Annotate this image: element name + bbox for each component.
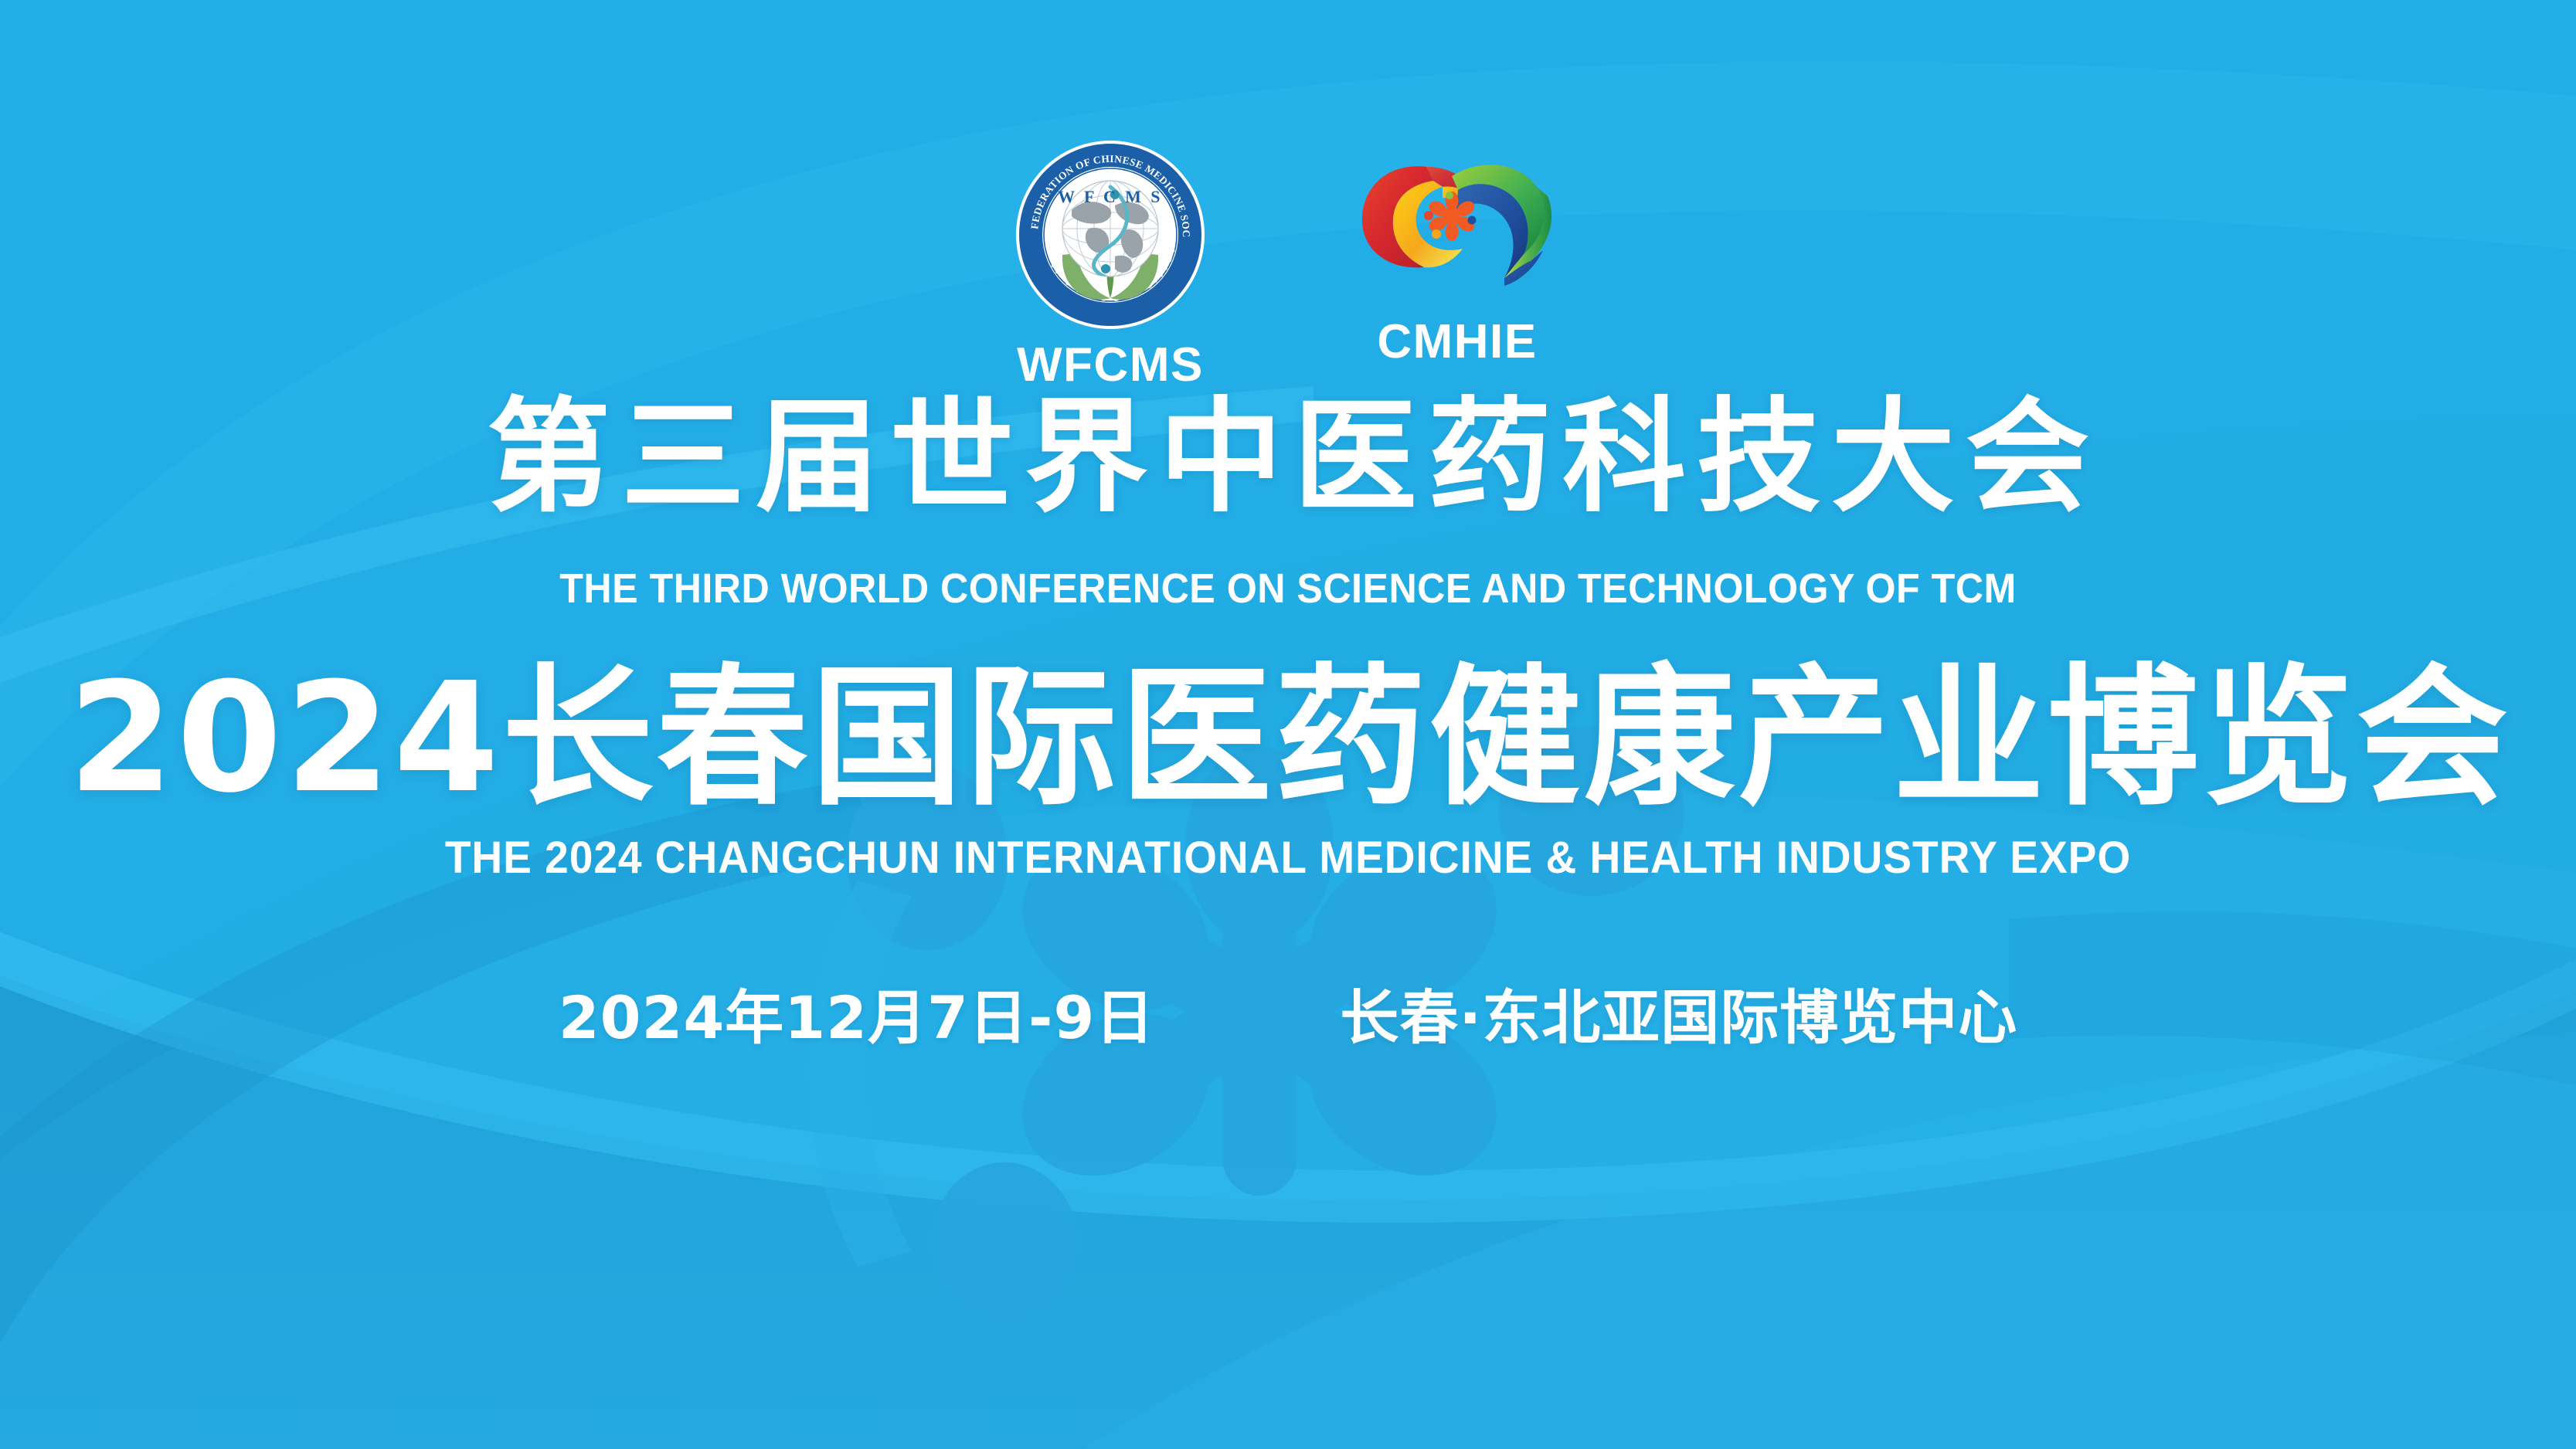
expo-title-zh: 2024长春国际医药健康产业博览会 (0, 663, 2576, 814)
logo-row: WORLD FEDERATION OF CHINESE MEDICINE SOC… (0, 139, 2576, 394)
event-date: 2024年12月7日-9日 (559, 989, 1155, 1047)
conference-title-zh: 第三届世界中医药科技大会 (0, 395, 2576, 519)
cmhie-logo-block: CMHIE (1353, 139, 1562, 366)
conference-banner: WORLD FEDERATION OF CHINESE MEDICINE SOC… (0, 0, 2576, 1449)
cmhie-heart-ribbon-logo (1353, 145, 1562, 292)
wfcms-wordmark: WFCMS (1017, 341, 1204, 389)
cmhie-wordmark: CMHIE (1377, 318, 1537, 366)
wfcms-emblem-inner-text: W F C M S (1058, 187, 1163, 206)
details-row: 2024年12月7日-9日 长春·东北亚国际博览中心 (0, 989, 2576, 1047)
event-venue: 长春·东北亚国际博览中心 (1340, 989, 2017, 1047)
conference-title-en: THE THIRD WORLD CONFERENCE ON SCIENCE AN… (90, 568, 2486, 609)
expo-title-en: THE 2024 CHANGCHUN INTERNATIONAL MEDICIN… (64, 836, 2511, 881)
wfcms-emblem: WORLD FEDERATION OF CHINESE MEDICINE SOC… (1014, 139, 1206, 331)
wfcms-logo-block: WORLD FEDERATION OF CHINESE MEDICINE SOC… (1014, 139, 1206, 389)
